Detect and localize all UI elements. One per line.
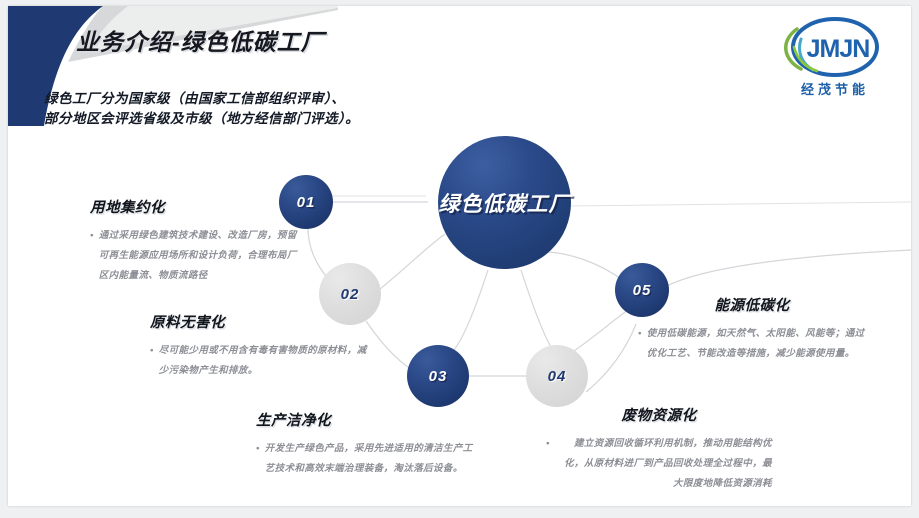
section-01-bullet: • 通过采用绿色建筑技术建设、改造厂房，预留可再生能源应用场所和设计负荷，合理布… — [90, 226, 298, 286]
section-01-body: 通过采用绿色建筑技术建设、改造厂房，预留可再生能源应用场所和设计负荷，合理布局厂… — [99, 226, 298, 286]
hub-node-label: 绿色低碳工厂 — [439, 188, 571, 218]
section-05-heading: 能源低碳化 — [638, 294, 866, 315]
diagram-node-01-label: 01 — [297, 194, 316, 211]
diagram-node-04[interactable]: 04 — [526, 345, 588, 407]
section-01-heading: 用地集约化 — [90, 196, 298, 217]
section-block-03: 生产洁净化 • 开发生产绿色产品，采用先进适用的清洁生产工艺技术和高效末端治理装… — [256, 409, 474, 479]
section-03-heading: 生产洁净化 — [256, 409, 474, 430]
section-03-body: 开发生产绿色产品，采用先进适用的清洁生产工艺技术和高效末端治理装备，淘汰落后设备… — [265, 439, 474, 479]
diagram-node-02-label: 02 — [341, 286, 360, 303]
section-05-body: 使用低碳能源，如天然气、太阳能、风能等；通过优化工艺、节能改造等措施，减少能源使… — [647, 324, 866, 364]
bullet-dot-icon: • — [150, 341, 154, 361]
bullet-dot-icon: • — [638, 324, 642, 344]
section-02-body: 尽可能少用或不用含有毒有害物质的原材料，减少污染物产生和排放。 — [159, 341, 376, 381]
section-03-bullet: • 开发生产绿色产品，采用先进适用的清洁生产工艺技术和高效末端治理装备，淘汰落后… — [256, 439, 474, 479]
slide-canvas: 业务介绍-绿色低碳工厂 绿色工厂分为国家级（由国家工信部组织评审）、 部分地区会… — [8, 6, 911, 506]
section-05-bullet: • 使用低碳能源，如天然气、太阳能、风能等；通过优化工艺、节能改造等措施，减少能… — [638, 324, 866, 364]
bullet-dot-icon: • — [90, 226, 94, 246]
section-block-04: 废物资源化 • 建立资源回收循环利用机制，推动用能结构优化，从原材料进厂到产品回… — [546, 404, 772, 494]
diagram-node-03-label: 03 — [429, 368, 448, 385]
section-04-bullet: • 建立资源回收循环利用机制，推动用能结构优化，从原材料进厂到产品回收处理全过程… — [546, 434, 772, 494]
section-04-body: 建立资源回收循环利用机制，推动用能结构优化，从原材料进厂到产品回收处理全过程中，… — [555, 434, 772, 494]
bullet-dot-icon: • — [546, 434, 550, 454]
diagram-node-03[interactable]: 03 — [407, 345, 469, 407]
section-04-heading: 废物资源化 — [546, 404, 772, 425]
diagram-node-04-label: 04 — [548, 368, 567, 385]
section-block-05: 能源低碳化 • 使用低碳能源，如天然气、太阳能、风能等；通过优化工艺、节能改造等… — [638, 294, 866, 364]
section-block-02: 原料无害化 • 尽可能少用或不用含有毒有害物质的原材料，减少污染物产生和排放。 — [150, 311, 376, 381]
bullet-dot-icon: • — [256, 439, 260, 459]
section-block-01: 用地集约化 • 通过采用绿色建筑技术建设、改造厂房，预留可再生能源应用场所和设计… — [90, 196, 298, 286]
section-02-bullet: • 尽可能少用或不用含有毒有害物质的原材料，减少污染物产生和排放。 — [150, 341, 376, 381]
section-02-heading: 原料无害化 — [150, 311, 376, 332]
hub-node-green-low-carbon-factory[interactable]: 绿色低碳工厂 — [438, 136, 571, 269]
